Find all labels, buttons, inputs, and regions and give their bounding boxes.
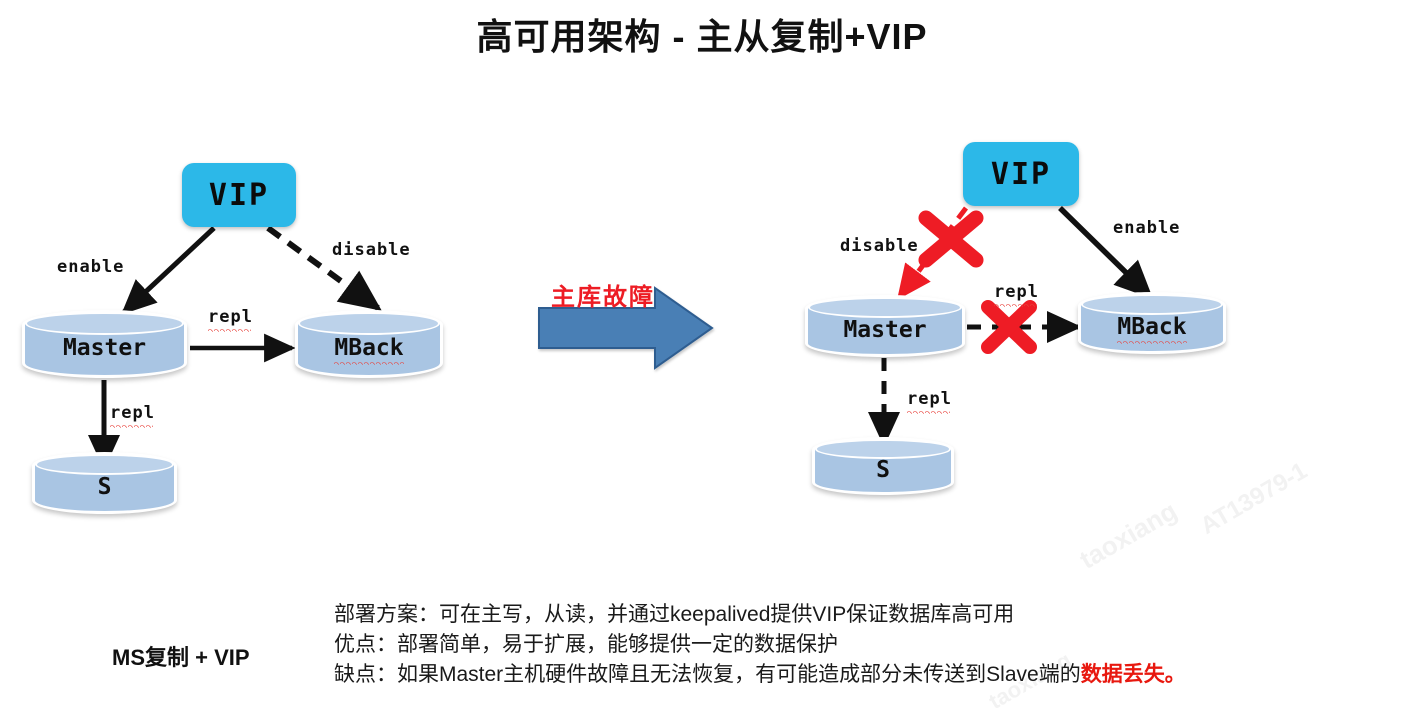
node-mback-left-label: MBack	[334, 335, 403, 361]
transition-label: 主库故障	[551, 277, 655, 312]
edge-label-repl-right-mback: repl	[994, 282, 1039, 302]
node-vip-right-label: VIP	[991, 157, 1051, 192]
node-slave-left[interactable]: S	[32, 452, 177, 514]
node-slave-left-label-wrap: S	[32, 452, 177, 514]
node-master-right-label: Master	[843, 317, 926, 343]
left-diagram-caption: MS复制 + VIP	[112, 640, 250, 672]
failure-x-vip-master	[926, 218, 976, 260]
watermark-text: taoxiang	[1074, 495, 1182, 575]
edge-label-repl-left-slave: repl	[110, 403, 155, 423]
node-master-left[interactable]: Master	[22, 310, 187, 378]
node-master-right-label-wrap: Master	[805, 295, 965, 357]
node-master-right[interactable]: Master	[805, 295, 965, 357]
edge-label-enable-left: enable	[57, 257, 124, 277]
description-line-3-highlight: 数据丢失。	[1081, 663, 1186, 686]
edge-label-enable-right: enable	[1113, 218, 1180, 238]
description-line-1: 部署方案：可在主写，从读，并通过keepalived提供VIP保证数据库高可用	[334, 600, 1014, 630]
node-master-left-label-wrap: Master	[22, 310, 187, 378]
node-mback-right-label-wrap: MBack	[1078, 292, 1226, 354]
node-mback-left[interactable]: MBack	[295, 310, 443, 378]
description-line-2: 优点：部署简单，易于扩展，能够提供一定的数据保护	[334, 630, 838, 660]
edge-label-disable-right: disable	[840, 236, 919, 256]
description-line-3-normal: 缺点：如果Master主机硬件故障且无法恢复，有可能造成部分未传送到Slave端…	[334, 663, 1081, 686]
edge-label-repl-left-mback: repl	[208, 307, 253, 327]
node-master-left-label: Master	[63, 335, 146, 361]
slide-canvas: 高可用架构 - 主从复制+VIP taoxiang AT13979-1 taox…	[0, 0, 1404, 702]
watermark-text: AT13979-1	[1196, 457, 1312, 540]
node-vip-right[interactable]: VIP	[963, 142, 1079, 206]
description-line-3: 缺点：如果Master主机硬件故障且无法恢复，有可能造成部分未传送到Slave端…	[334, 660, 1186, 690]
node-vip-left-label: VIP	[209, 178, 269, 213]
failure-x-master-mback	[988, 307, 1030, 347]
node-slave-right-label-wrap: S	[812, 437, 954, 495]
node-vip-left[interactable]: VIP	[182, 163, 296, 227]
edge-label-disable-left: disable	[332, 240, 411, 260]
node-mback-right[interactable]: MBack	[1078, 292, 1226, 354]
node-slave-left-label: S	[98, 474, 112, 500]
page-title: 高可用架构 - 主从复制+VIP	[0, 8, 1404, 60]
node-slave-right[interactable]: S	[812, 437, 954, 495]
node-mback-right-label: MBack	[1117, 314, 1186, 340]
edge-label-repl-right-slave: repl	[907, 389, 952, 409]
edge-vip-to-master-left	[124, 228, 214, 312]
node-mback-left-label-wrap: MBack	[295, 310, 443, 378]
node-slave-right-label: S	[876, 457, 890, 483]
